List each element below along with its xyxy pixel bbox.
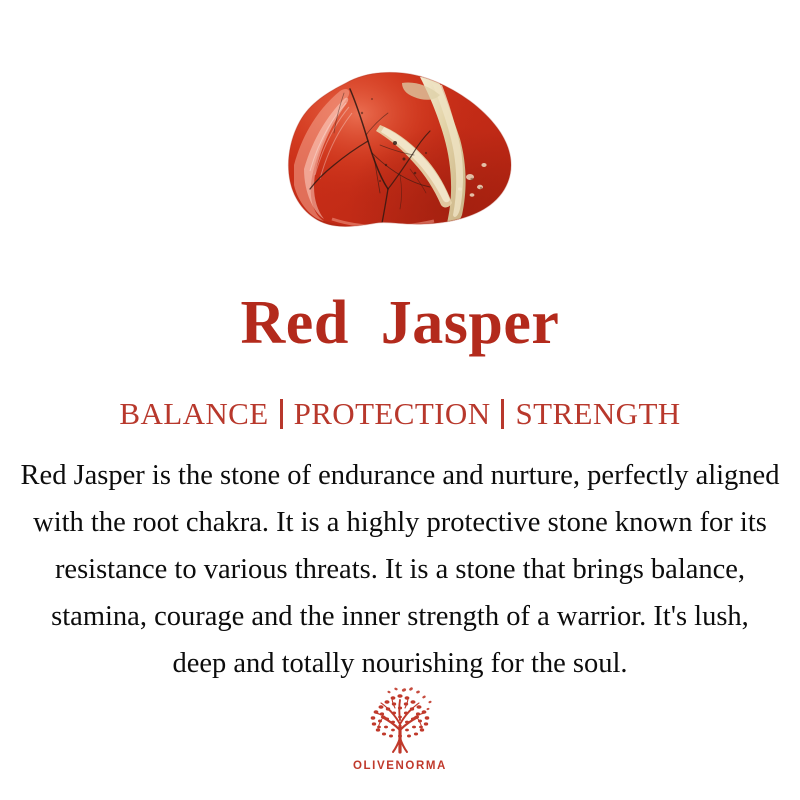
tree-of-life-icon [360, 686, 440, 758]
keyword-separator [280, 399, 283, 429]
description-line: with the root chakra. It is a highly pro… [8, 499, 792, 546]
description-paragraph: Red Jasper is the stone of endurance and… [8, 452, 792, 687]
brand-wordmark: OLIVENORMA [353, 760, 447, 772]
keyword-line: BALANCEPROTECTIONSTRENGTH [0, 396, 800, 432]
description-line: resistance to various threats. It is a s… [8, 546, 792, 593]
product-image [0, 60, 800, 250]
keyword-protection: PROTECTION [294, 396, 491, 431]
red-jasper-stone-illustration [284, 69, 516, 241]
brand-logo: OLIVENORMA [0, 686, 800, 772]
keyword-balance: BALANCE [119, 396, 268, 431]
keyword-separator [501, 399, 504, 429]
description-line: Red Jasper is the stone of endurance and… [8, 452, 792, 499]
description-line: deep and totally nourishing for the soul… [8, 640, 792, 687]
keyword-strength: STRENGTH [515, 396, 680, 431]
description-line: stamina, courage and the inner strength … [8, 593, 792, 640]
red-jasper-infographic: Red Jasper BALANCEPROTECTIONSTRENGTH Red… [0, 0, 800, 800]
page-title: Red Jasper [0, 288, 800, 358]
